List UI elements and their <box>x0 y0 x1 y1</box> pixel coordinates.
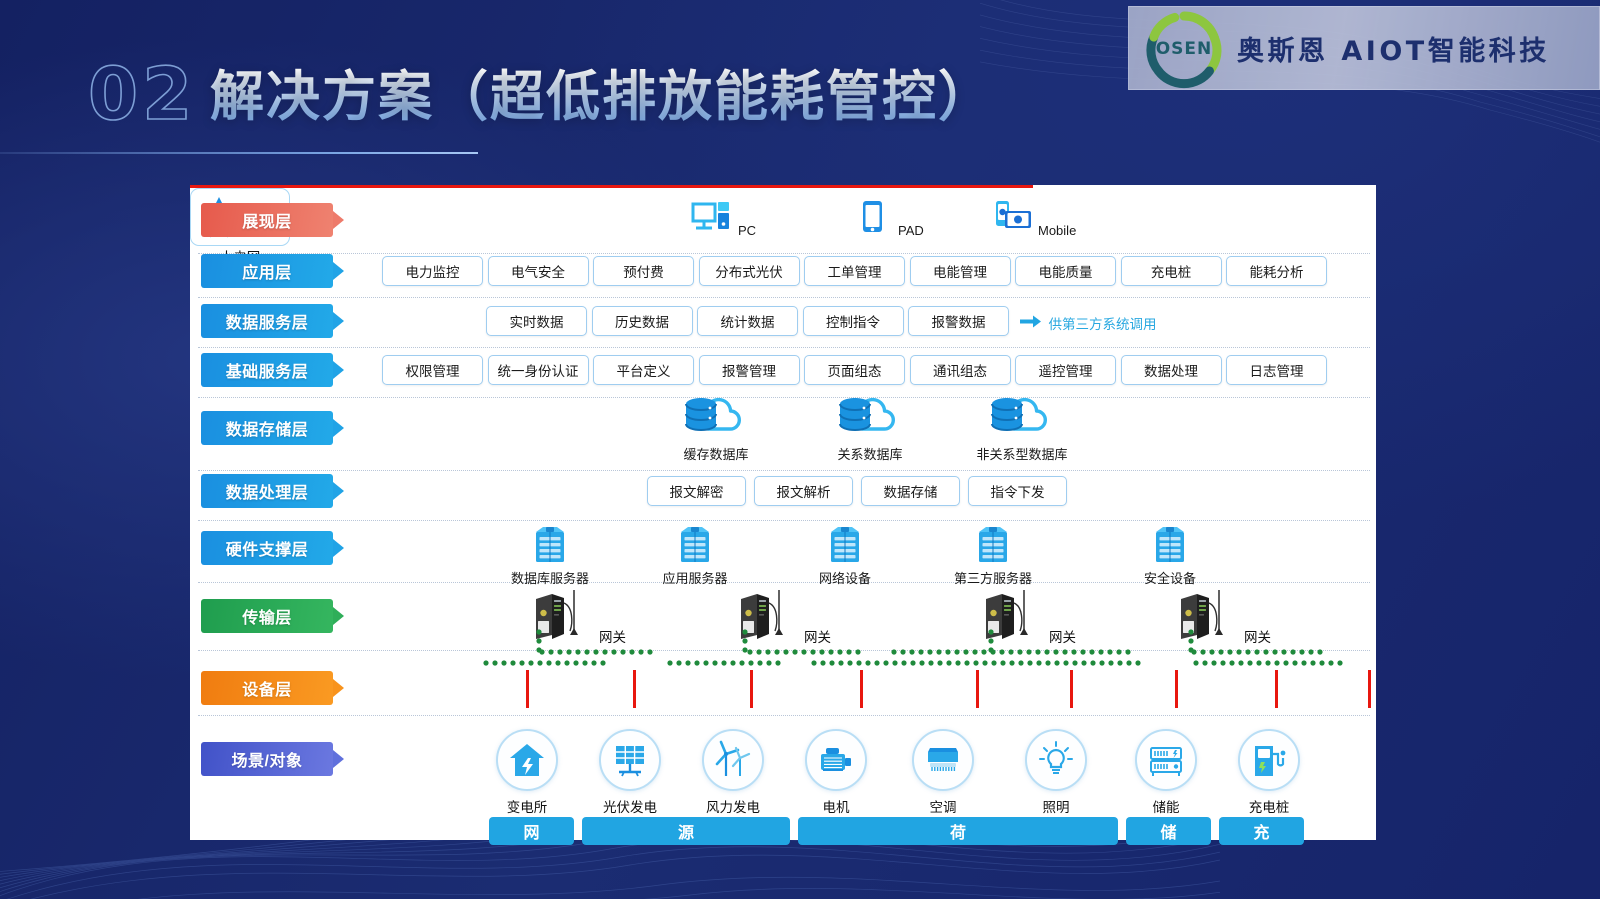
processing-pill-1[interactable]: 报文解密 <box>647 476 746 506</box>
bus-drop-2 <box>633 670 636 708</box>
app-pill-8[interactable]: 充电桩 <box>1121 256 1222 286</box>
category-bar-源[interactable]: 源 <box>582 817 790 845</box>
server-rack-icon <box>938 525 1048 568</box>
bus-drop-8 <box>1275 670 1278 708</box>
light-bulb-icon <box>1025 729 1087 791</box>
server-rack-icon <box>790 525 900 568</box>
layer-tag-8[interactable]: 传输层 <box>201 599 333 633</box>
database-cloud-icon <box>962 395 1082 444</box>
wind-turbine-icon <box>702 729 764 791</box>
storage-label: 非关系型数据库 <box>962 444 1082 463</box>
app-pill-4[interactable]: 分布式光伏 <box>699 256 800 286</box>
hardware-item-4[interactable]: 第三方服务器 <box>938 525 1048 587</box>
database-cloud-icon <box>810 395 930 444</box>
storage-item-1[interactable]: 缓存数据库 <box>656 395 776 463</box>
basic-pill-2[interactable]: 统一身份认证 <box>488 355 589 385</box>
layer-tag-2[interactable]: 应用层 <box>201 254 333 288</box>
bus-drop-9 <box>1368 670 1371 708</box>
dataservice-pill-4[interactable]: 控制指令 <box>803 306 904 336</box>
processing-pill-2[interactable]: 报文解析 <box>754 476 853 506</box>
server-rack-icon <box>640 525 750 568</box>
company-name: 奥斯恩 AIOT智能科技 <box>1237 29 1550 68</box>
layer-tag-1[interactable]: 展现层 <box>201 203 333 237</box>
slide-header: 02 解决方案（超低排放能耗管控） OSEN 奥斯恩 AIOT智能科技 <box>0 0 1600 160</box>
category-bar-荷[interactable]: 荷 <box>798 817 1118 845</box>
scene-item-6[interactable]: 照明 <box>1010 729 1102 816</box>
hardware-item-3[interactable]: 网络设备 <box>790 525 900 587</box>
scene-label: 储能 <box>1120 796 1212 816</box>
svg-text:OSEN: OSEN <box>1156 39 1213 59</box>
layer-tag-3[interactable]: 数据服务层 <box>201 304 333 338</box>
scene-label: 光伏发电 <box>584 796 676 816</box>
presentation-label: PC <box>738 223 756 238</box>
hardware-item-5[interactable]: 安全设备 <box>1115 525 1225 587</box>
substation-icon <box>496 729 558 791</box>
basic-pill-6[interactable]: 通讯组态 <box>910 355 1011 385</box>
scene-item-3[interactable]: 风力发电 <box>687 729 779 816</box>
row-separator-9 <box>198 715 1370 716</box>
scene-item-4[interactable]: 电机 <box>790 729 882 816</box>
basic-pill-7[interactable]: 遥控管理 <box>1015 355 1116 385</box>
row-separator-5 <box>198 470 1370 471</box>
link-dots-2 <box>482 654 612 661</box>
layer-tag-4[interactable]: 基础服务层 <box>201 353 333 387</box>
layer-tag-5[interactable]: 数据存储层 <box>201 411 333 445</box>
link-dots-4 <box>666 654 784 661</box>
ev-charger-icon <box>1238 729 1300 791</box>
row-separator-1 <box>198 253 1370 254</box>
device-bus-line <box>190 185 1033 188</box>
bus-drop-6 <box>1070 670 1073 708</box>
app-pill-3[interactable]: 预付费 <box>593 256 694 286</box>
section-number: 02 <box>88 52 196 136</box>
basic-pill-5[interactable]: 页面组态 <box>804 355 905 385</box>
link-dots-5 <box>890 643 1140 650</box>
scene-item-5[interactable]: 空调 <box>897 729 989 816</box>
hardware-item-1[interactable]: 数据库服务器 <box>495 525 605 587</box>
category-bar-网[interactable]: 网 <box>489 817 574 845</box>
link-dots-6 <box>810 654 1146 661</box>
third-party-text: 供第三方系统调用 <box>1049 313 1157 333</box>
osen-logo-icon: OSEN <box>1143 7 1225 89</box>
bus-drop-7 <box>1175 670 1178 708</box>
bus-drop-5 <box>976 670 979 708</box>
bus-drop-1 <box>526 670 529 708</box>
app-pill-7[interactable]: 电能质量 <box>1015 256 1116 286</box>
presentation-label: Mobile <box>1038 223 1076 238</box>
battery-storage-icon <box>1135 729 1197 791</box>
dataservice-pill-1[interactable]: 实时数据 <box>486 306 587 336</box>
hardware-label: 数据库服务器 <box>495 568 605 587</box>
hardware-label: 安全设备 <box>1115 568 1225 587</box>
presentation-item-mobile[interactable]: Mobile <box>990 197 1076 242</box>
motor-icon <box>805 729 867 791</box>
app-pill-1[interactable]: 电力监控 <box>382 256 483 286</box>
link-vdots-2 <box>741 628 749 656</box>
desktop-pc-icon <box>690 197 734 242</box>
scene-item-2[interactable]: 光伏发电 <box>584 729 676 816</box>
category-bar-充[interactable]: 充 <box>1219 817 1304 845</box>
server-rack-icon <box>495 525 605 568</box>
presentation-item-pc[interactable]: PC <box>690 197 756 242</box>
gateway-1[interactable]: 网关 <box>530 587 626 648</box>
scene-label: 变电所 <box>481 796 573 816</box>
title-underline <box>0 152 478 154</box>
scene-label: 风力发电 <box>687 796 779 816</box>
layer-tag-9[interactable]: 设备层 <box>201 671 333 705</box>
hardware-item-2[interactable]: 应用服务器 <box>640 525 750 587</box>
layer-tag-10[interactable]: 场景/对象 <box>201 742 333 776</box>
gateway-device-icon <box>1175 587 1241 648</box>
server-rack-icon <box>1115 525 1225 568</box>
hardware-label: 第三方服务器 <box>938 568 1048 587</box>
basic-pill-8[interactable]: 数据处理 <box>1121 355 1222 385</box>
layer-tag-6[interactable]: 数据处理层 <box>201 474 333 508</box>
row-separator-4 <box>198 397 1370 398</box>
row-separator-2 <box>198 297 1370 298</box>
presentation-item-pad[interactable]: PAD <box>850 197 924 242</box>
storage-label: 关系数据库 <box>810 444 930 463</box>
mobile-phone-icon <box>990 197 1034 242</box>
third-party-callout: 供第三方系统调用 <box>1020 313 1157 333</box>
app-pill-5[interactable]: 工单管理 <box>804 256 905 286</box>
basic-pill-9[interactable]: 日志管理 <box>1226 355 1327 385</box>
page-title: 解决方案（超低排放能耗管控） <box>210 52 994 131</box>
row-separator-6 <box>198 520 1370 521</box>
scene-item-1[interactable]: 变电所 <box>481 729 573 816</box>
basic-pill-4[interactable]: 报警管理 <box>699 355 800 385</box>
processing-pill-4[interactable]: 指令下发 <box>968 476 1067 506</box>
row-separator-3 <box>198 347 1370 348</box>
air-conditioner-icon <box>912 729 974 791</box>
presentation-label: PAD <box>898 223 924 238</box>
dataservice-pill-2[interactable]: 历史数据 <box>592 306 693 336</box>
link-vdots-3 <box>987 628 995 656</box>
link-dots-7 <box>1190 643 1330 650</box>
layer-tag-7[interactable]: 硬件支撑层 <box>201 531 333 565</box>
scene-label: 空调 <box>897 796 989 816</box>
arrow-right-icon <box>1020 315 1042 331</box>
link-dots-8 <box>1192 654 1352 661</box>
scene-label: 充电桩 <box>1223 796 1315 816</box>
database-cloud-icon <box>656 395 776 444</box>
scene-label: 照明 <box>1010 796 1102 816</box>
basic-pill-3[interactable]: 平台定义 <box>593 355 694 385</box>
scene-label: 电机 <box>790 796 882 816</box>
app-pill-2[interactable]: 电气安全 <box>488 256 589 286</box>
architecture-diagram-panel: 展现层应用层数据服务层基础服务层数据存储层数据处理层硬件支撑层传输层设备层场景/… <box>190 185 1376 840</box>
processing-pill-3[interactable]: 数据存储 <box>861 476 960 506</box>
basic-pill-1[interactable]: 权限管理 <box>382 355 483 385</box>
dataservice-pill-5[interactable]: 报警数据 <box>908 306 1009 336</box>
bus-drop-4 <box>860 670 863 708</box>
hardware-label: 应用服务器 <box>640 568 750 587</box>
storage-label: 缓存数据库 <box>656 444 776 463</box>
link-dots-1 <box>538 643 656 650</box>
link-dots-3 <box>746 643 864 650</box>
storage-item-3[interactable]: 非关系型数据库 <box>962 395 1082 463</box>
category-bar-储[interactable]: 储 <box>1126 817 1211 845</box>
scene-item-8[interactable]: 充电桩 <box>1223 729 1315 816</box>
hardware-label: 网络设备 <box>790 568 900 587</box>
tablet-icon <box>850 197 894 242</box>
link-vdots-4 <box>1187 628 1195 656</box>
company-logo-bar: OSEN 奥斯恩 AIOT智能科技 <box>1128 6 1600 90</box>
storage-item-2[interactable]: 关系数据库 <box>810 395 930 463</box>
gateway-2[interactable]: 网关 <box>735 587 831 648</box>
scene-item-7[interactable]: 储能 <box>1120 729 1212 816</box>
bus-drop-3 <box>750 670 753 708</box>
link-vdots-1 <box>535 628 543 656</box>
app-pill-6[interactable]: 电能管理 <box>910 256 1011 286</box>
dataservice-pill-3[interactable]: 统计数据 <box>697 306 798 336</box>
solar-panel-icon <box>599 729 661 791</box>
app-pill-9[interactable]: 能耗分析 <box>1226 256 1327 286</box>
